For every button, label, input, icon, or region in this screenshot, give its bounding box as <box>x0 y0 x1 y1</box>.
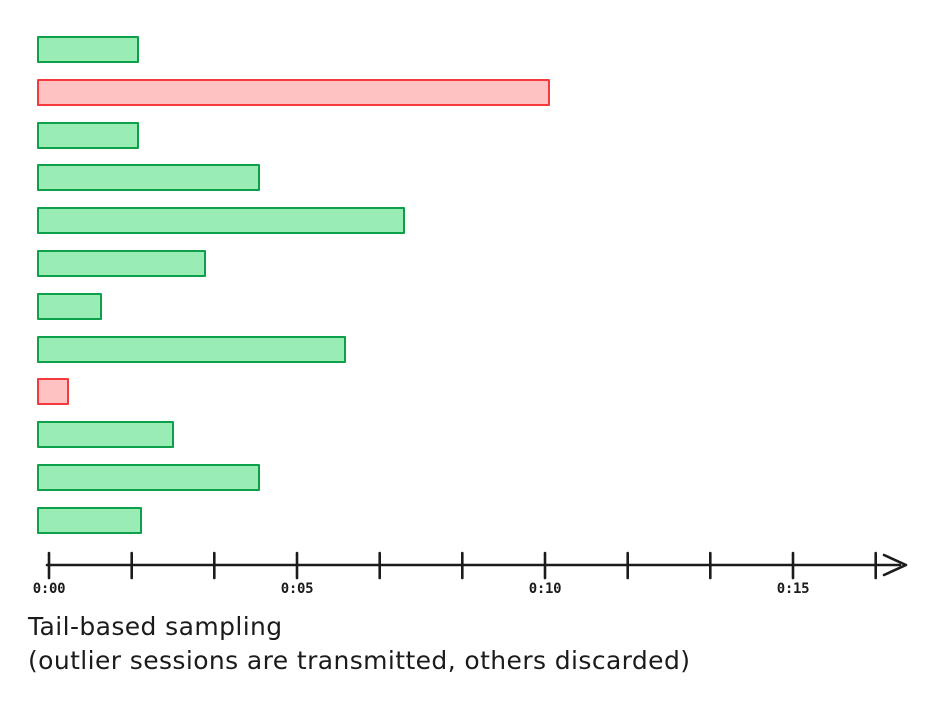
bar-session-8 <box>37 336 346 363</box>
bar-session-6 <box>37 250 206 277</box>
bar-series <box>0 0 942 545</box>
bar-session-4 <box>37 164 260 191</box>
tail-based-sampling-chart: 0:000:050:100:15 Tail-based sampling (ou… <box>0 0 942 716</box>
bar-session-10 <box>37 421 174 448</box>
tick-label-0-00: 0:00 <box>33 581 66 597</box>
tick-label-0-10: 0:10 <box>529 581 562 597</box>
bar-session-12 <box>37 507 142 534</box>
bar-session-9 <box>37 378 69 405</box>
bar-session-3 <box>37 122 139 149</box>
tick-label-0-15: 0:15 <box>777 581 810 597</box>
time-axis: 0:000:050:100:15 <box>0 545 942 605</box>
arrow-right-icon <box>47 555 906 575</box>
bar-session-7 <box>37 293 102 320</box>
caption-line-1: Tail-based sampling <box>28 610 928 644</box>
bar-session-2 <box>37 79 550 106</box>
caption-line-2: (outlier sessions are transmitted, other… <box>28 644 928 678</box>
chart-caption: Tail-based sampling (outlier sessions ar… <box>28 610 928 678</box>
tick-label-0-05: 0:05 <box>281 581 314 597</box>
bar-session-11 <box>37 464 260 491</box>
bar-session-1 <box>37 36 139 63</box>
bar-session-5 <box>37 207 405 234</box>
